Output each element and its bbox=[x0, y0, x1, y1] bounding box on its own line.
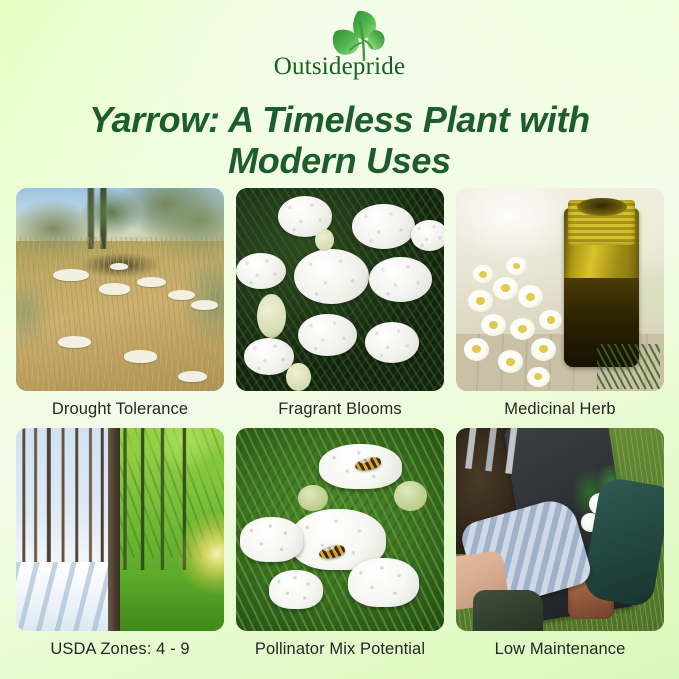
feature-card: Drought Tolerance bbox=[16, 188, 224, 428]
header: Outsidepride Yarrow: A Timeless Plant wi… bbox=[0, 0, 679, 182]
photo-usda-zones bbox=[16, 428, 224, 631]
caption-drought-tolerance: Drought Tolerance bbox=[16, 391, 224, 428]
photo-pollinator-mix bbox=[236, 428, 444, 631]
feature-card: Pollinator Mix Potential bbox=[236, 428, 444, 668]
brand-name: Outsidepride bbox=[250, 54, 430, 79]
feature-card: Fragrant Blooms bbox=[236, 188, 444, 428]
caption-low-maintenance: Low Maintenance bbox=[456, 631, 664, 668]
feature-card: USDA Zones: 4 - 9 bbox=[16, 428, 224, 668]
caption-usda-zones: USDA Zones: 4 - 9 bbox=[16, 631, 224, 668]
feature-card: Low Maintenance bbox=[456, 428, 664, 668]
caption-fragrant-blooms: Fragrant Blooms bbox=[236, 391, 444, 428]
feature-grid: Drought Tolerance Fragrant Blooms bbox=[16, 188, 664, 668]
photo-drought-tolerance bbox=[16, 188, 224, 391]
infographic-page: Outsidepride Yarrow: A Timeless Plant wi… bbox=[0, 0, 679, 679]
photo-medicinal-herb bbox=[456, 188, 664, 391]
feature-card: Medicinal Herb bbox=[456, 188, 664, 428]
photo-fragrant-blooms bbox=[236, 188, 444, 391]
page-title: Yarrow: A Timeless Plant with Modern Use… bbox=[40, 99, 640, 182]
photo-low-maintenance bbox=[456, 428, 664, 631]
caption-pollinator-mix: Pollinator Mix Potential bbox=[236, 631, 444, 668]
caption-medicinal-herb: Medicinal Herb bbox=[456, 391, 664, 428]
brand-logo: Outsidepride bbox=[250, 6, 430, 88]
